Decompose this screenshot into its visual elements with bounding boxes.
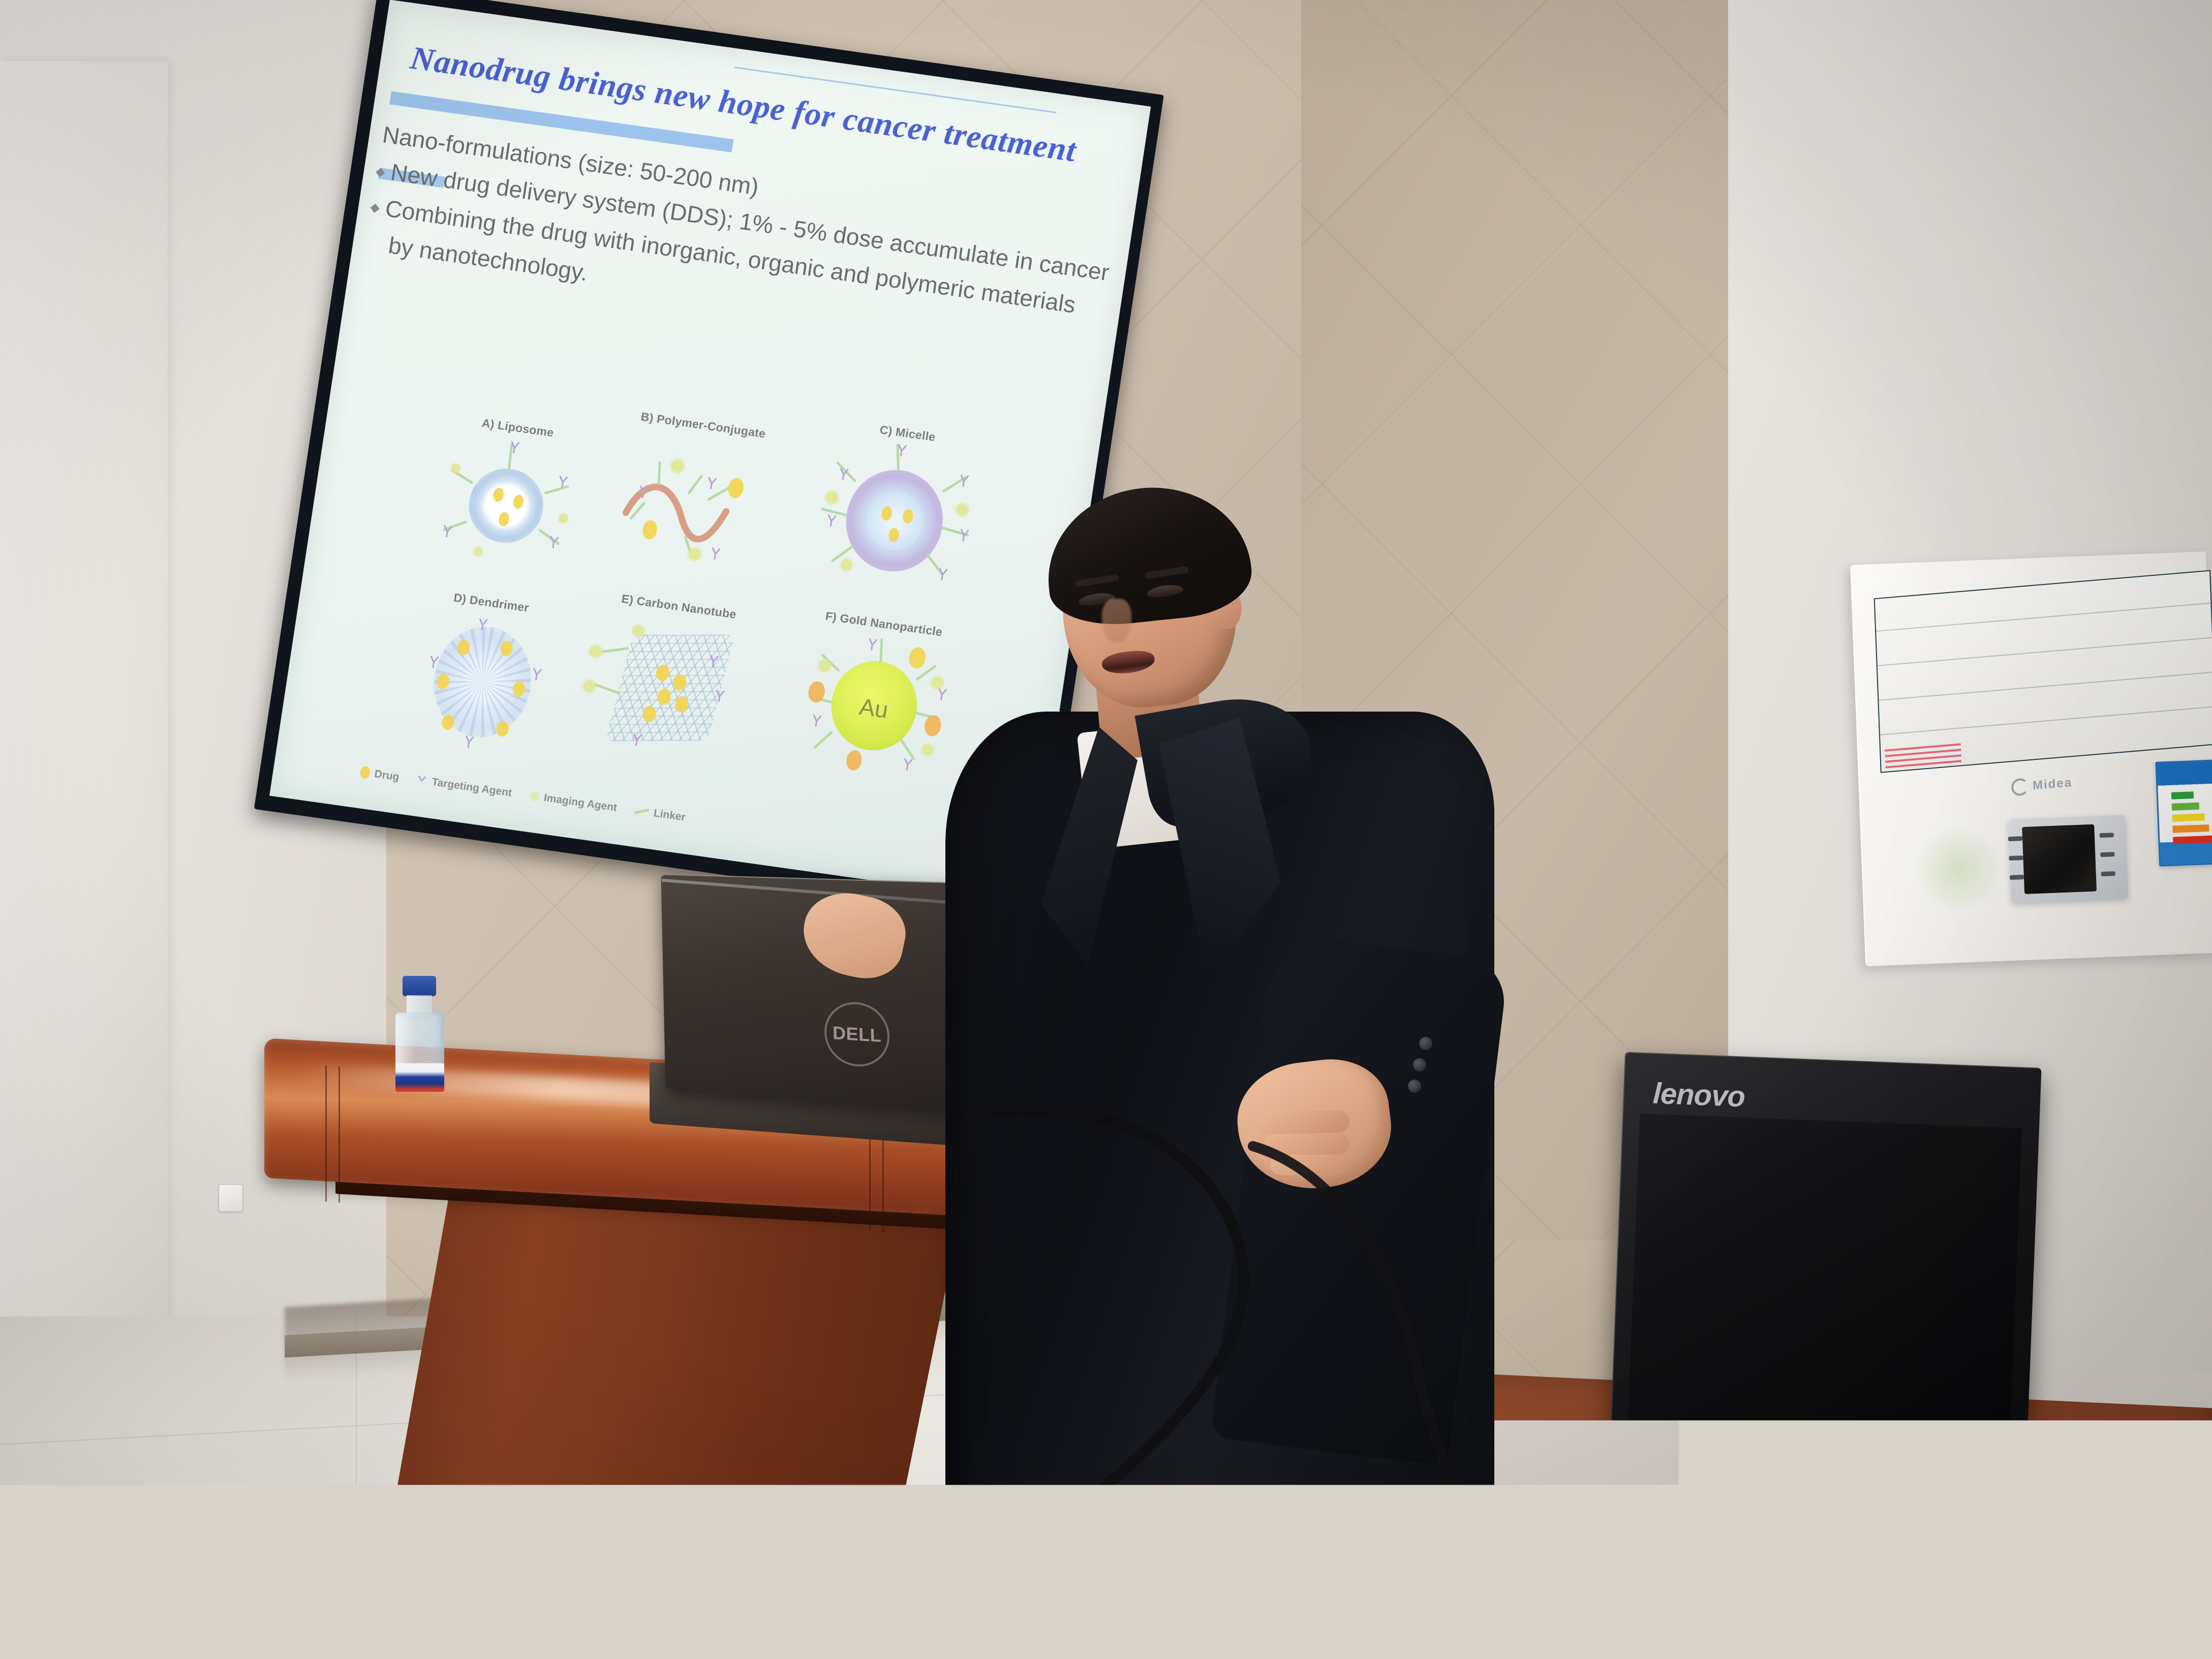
ac-button[interactable] — [2009, 855, 2023, 861]
podium-groove — [325, 1065, 327, 1202]
imaging-agent-icon — [580, 677, 598, 695]
ac-louver — [1876, 603, 2210, 632]
targeting-agent-icon — [704, 476, 720, 490]
nanotube-lattice — [605, 634, 735, 741]
drug-bead — [923, 714, 942, 738]
targeting-agent-icon — [935, 567, 950, 581]
targeting-agent-icon — [440, 524, 455, 539]
presenter-nose — [1102, 599, 1131, 642]
legend-item-linker: Linker — [633, 804, 687, 823]
targeting-agent-icon — [957, 473, 972, 488]
podium-groove — [339, 1066, 340, 1203]
coat-cuff-button — [1419, 1037, 1432, 1050]
liposome-art — [413, 427, 599, 585]
imaging-agent-icon — [587, 642, 605, 660]
drug-icon — [359, 765, 371, 779]
energy-bar-lightgreen — [2172, 803, 2199, 811]
polymer-conjugate-art — [598, 424, 785, 582]
ac-louver — [1880, 706, 2212, 735]
ac-brand-label: Midea — [2033, 776, 2073, 793]
targeting-agent-icon — [636, 485, 652, 500]
linker-arm — [813, 731, 833, 749]
energy-bar-yellow — [2172, 813, 2204, 821]
imaging-agent-icon — [471, 544, 485, 558]
bullet-icon — [371, 204, 380, 213]
energy-efficiency-label — [2155, 759, 2212, 867]
lenovo-logo: lenovo — [1652, 1077, 1745, 1114]
presenter-finger — [1258, 1110, 1350, 1135]
ac-louver — [1879, 671, 2212, 700]
bottle-cap — [403, 976, 436, 996]
linker-arm — [600, 647, 629, 654]
dendrimer-art — [386, 602, 573, 760]
coat-cuff-button — [1413, 1058, 1426, 1071]
carbon-nanotube-art — [574, 606, 760, 764]
drug-bead — [908, 646, 927, 669]
targeting-agent-icon — [415, 774, 428, 787]
targeting-agent-icon — [713, 688, 728, 703]
targeting-agent-icon — [546, 535, 562, 549]
ac-button[interactable] — [2010, 875, 2024, 880]
legend-item-imaging-agent: Imaging Agent — [528, 789, 618, 814]
ac-control-panel[interactable] — [2009, 815, 2129, 903]
ac-button[interactable] — [2008, 836, 2022, 841]
targeting-agent-icon — [824, 513, 840, 528]
legend-label-targeting: Targeting Agent — [431, 776, 513, 799]
targeting-agent-icon — [462, 734, 477, 749]
targeting-agent-icon — [708, 546, 723, 561]
figure-gold-nanoparticle: F) Gold Nanoparticle Au — [779, 606, 968, 782]
imaging-agent-icon — [815, 657, 834, 675]
ac-button[interactable] — [2100, 852, 2114, 857]
presenter-finger — [1264, 1133, 1349, 1156]
legend-label-linker: Linker — [653, 807, 686, 824]
ac-button[interactable] — [2101, 871, 2115, 876]
targeting-agent-icon — [630, 732, 645, 747]
ac-grille — [1874, 570, 2212, 773]
targeting-agent-icon — [556, 474, 571, 489]
figure-carbon-nanotube: E) Carbon Nanotube — [574, 588, 763, 764]
energy-bar-red — [2173, 836, 2212, 844]
legend-label-drug: Drug — [374, 768, 400, 784]
presenter — [956, 488, 1525, 1659]
figure-liposome: A) Liposome — [413, 410, 602, 586]
midea-swirl-icon — [2011, 778, 2029, 796]
energy-bar-orange — [2172, 824, 2209, 833]
lecture-hall-scene: Nanodrug brings new hope for cancer trea… — [0, 0, 2212, 1659]
imaging-agent-icon — [919, 741, 936, 758]
wall-pillar — [0, 61, 168, 1342]
targeting-agent-icon — [809, 713, 824, 728]
imaging-agent-icon — [449, 462, 463, 475]
lenovo-monitor: lenovo — [1616, 1060, 2069, 1599]
targeting-agent-icon — [865, 637, 880, 652]
power-outlet[interactable] — [219, 1184, 243, 1212]
linker-icon — [634, 809, 649, 814]
targeting-agent-icon — [507, 440, 523, 454]
presenter-finger — [1271, 1155, 1347, 1175]
targeting-agent-icon — [837, 467, 852, 481]
imaging-agent-icon — [528, 790, 540, 803]
liposome-shell — [464, 464, 548, 547]
ac-display-screen — [2022, 824, 2097, 894]
monitor-screen — [1627, 1114, 2022, 1448]
energy-bar-green — [2171, 791, 2194, 800]
ac-louver — [1878, 637, 2212, 666]
imaging-agent-icon — [556, 511, 570, 525]
nanocarrier-figure-grid: A) Liposome — [383, 361, 1042, 843]
coat-cuff-button — [1408, 1080, 1421, 1093]
ac-button[interactable] — [2100, 833, 2114, 838]
gold-nanoparticle-art: Au — [779, 623, 965, 781]
legend-label-imaging: Imaging Agent — [543, 791, 618, 814]
linker-arm — [879, 638, 883, 663]
targeting-agent-icon — [426, 654, 442, 669]
drug-bead — [845, 749, 863, 772]
air-conditioner-unit: Midea — [1850, 551, 2212, 966]
targeting-agent-icon — [475, 617, 490, 632]
imaging-agent-icon — [838, 556, 855, 573]
bottle-label — [395, 1063, 444, 1092]
targeting-agent-icon — [901, 757, 916, 772]
targeting-agent-icon — [895, 443, 910, 458]
figure-polymer-conjugate: B) Polymer-Conjugate — [598, 407, 787, 582]
bullet-icon — [376, 168, 385, 177]
water-bottle[interactable] — [387, 976, 452, 1092]
targeting-agent-icon — [706, 654, 722, 668]
legend-item-drug: Drug — [359, 765, 400, 783]
imaging-agent-icon — [822, 488, 841, 507]
podium-front-panel — [366, 1190, 966, 1659]
legend-item-targeting-agent: Targeting Agent — [415, 774, 512, 799]
figure-dendrimer: D) Dendrimer — [386, 585, 575, 760]
targeting-agent-icon — [530, 667, 545, 682]
